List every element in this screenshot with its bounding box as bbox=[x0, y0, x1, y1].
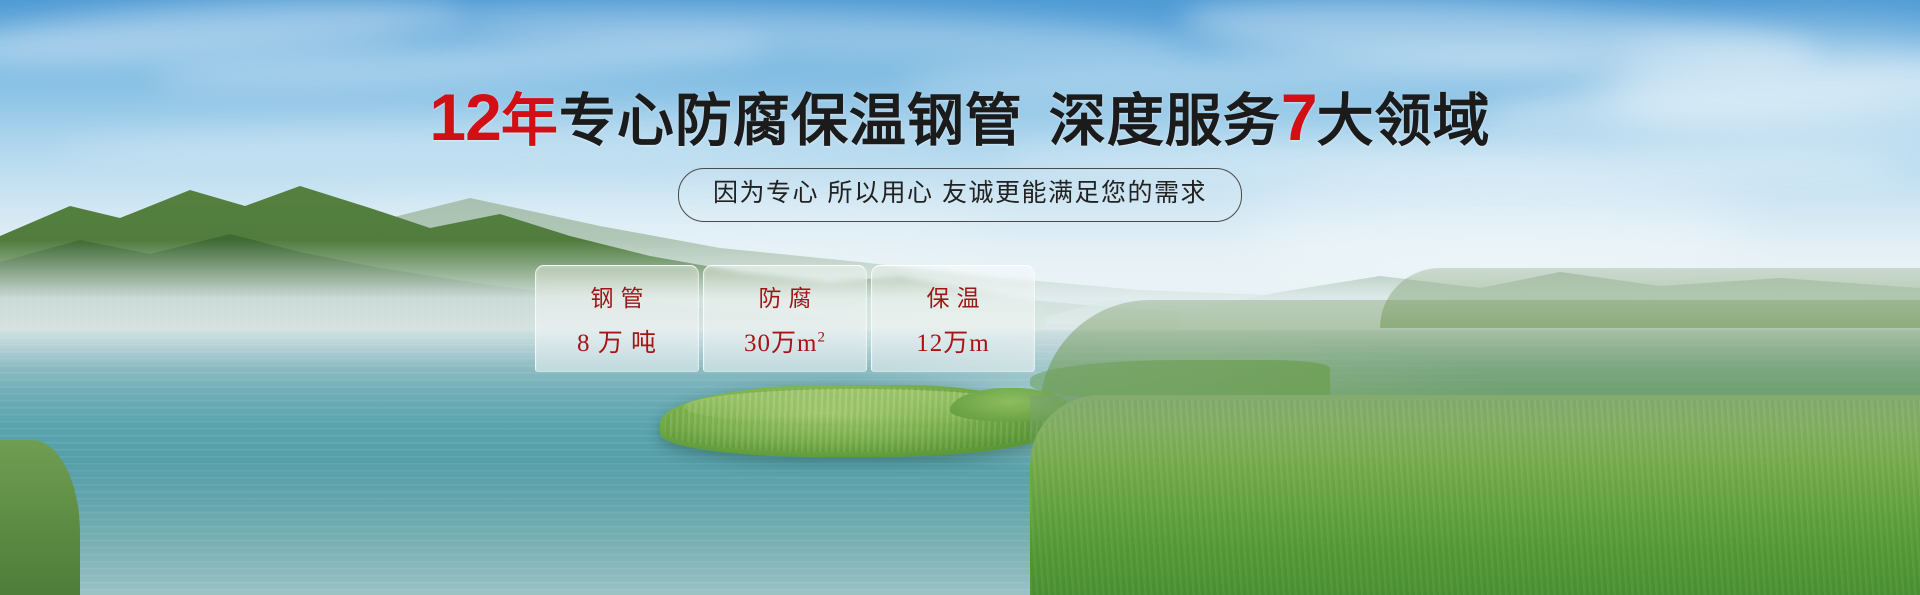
headline-service-text: 深度服务 bbox=[1049, 89, 1281, 153]
stats-card-group: 钢管 8 万 吨 防腐 30万m2 保温 12万m bbox=[535, 265, 1035, 372]
headline-years-number: 12 bbox=[429, 80, 500, 154]
headline-fields-number: 7 bbox=[1281, 80, 1317, 154]
stats-card-value-text: 30万m bbox=[744, 330, 817, 357]
stats-card-value: 12万m bbox=[916, 323, 989, 359]
banner-headline: 12年专心防腐保温钢管深度服务7大领域 bbox=[0, 83, 1920, 152]
headline-years-unit: 年 bbox=[501, 89, 559, 153]
stats-card: 防腐 30万m2 bbox=[703, 265, 867, 372]
stats-card-value: 30万m2 bbox=[744, 323, 826, 359]
headline-main-text: 专心防腐保温钢管 bbox=[559, 89, 1023, 153]
stats-card-title: 钢管 bbox=[584, 279, 651, 313]
hero-banner: 12年专心防腐保温钢管深度服务7大领域 因为专心 所以用心 友诚更能满足您的需求… bbox=[0, 0, 1920, 595]
banner-subtitle-wrap: 因为专心 所以用心 友诚更能满足您的需求 bbox=[0, 168, 1920, 222]
stats-card-title: 防腐 bbox=[752, 279, 819, 313]
stats-card-value: 8 万 吨 bbox=[577, 323, 657, 359]
banner-content: 12年专心防腐保温钢管深度服务7大领域 因为专心 所以用心 友诚更能满足您的需求… bbox=[0, 0, 1920, 595]
banner-subtitle: 因为专心 所以用心 友诚更能满足您的需求 bbox=[678, 168, 1242, 222]
stats-card: 保温 12万m bbox=[871, 265, 1035, 372]
stats-card-value-text: 12万m bbox=[916, 330, 989, 357]
stats-card: 钢管 8 万 吨 bbox=[535, 265, 699, 372]
stats-card-title: 保温 bbox=[920, 279, 987, 313]
stats-card-value-text: 8 万 吨 bbox=[577, 330, 657, 357]
headline-fields-text: 大领域 bbox=[1317, 89, 1491, 153]
stats-card-value-superscript: 2 bbox=[817, 329, 826, 345]
